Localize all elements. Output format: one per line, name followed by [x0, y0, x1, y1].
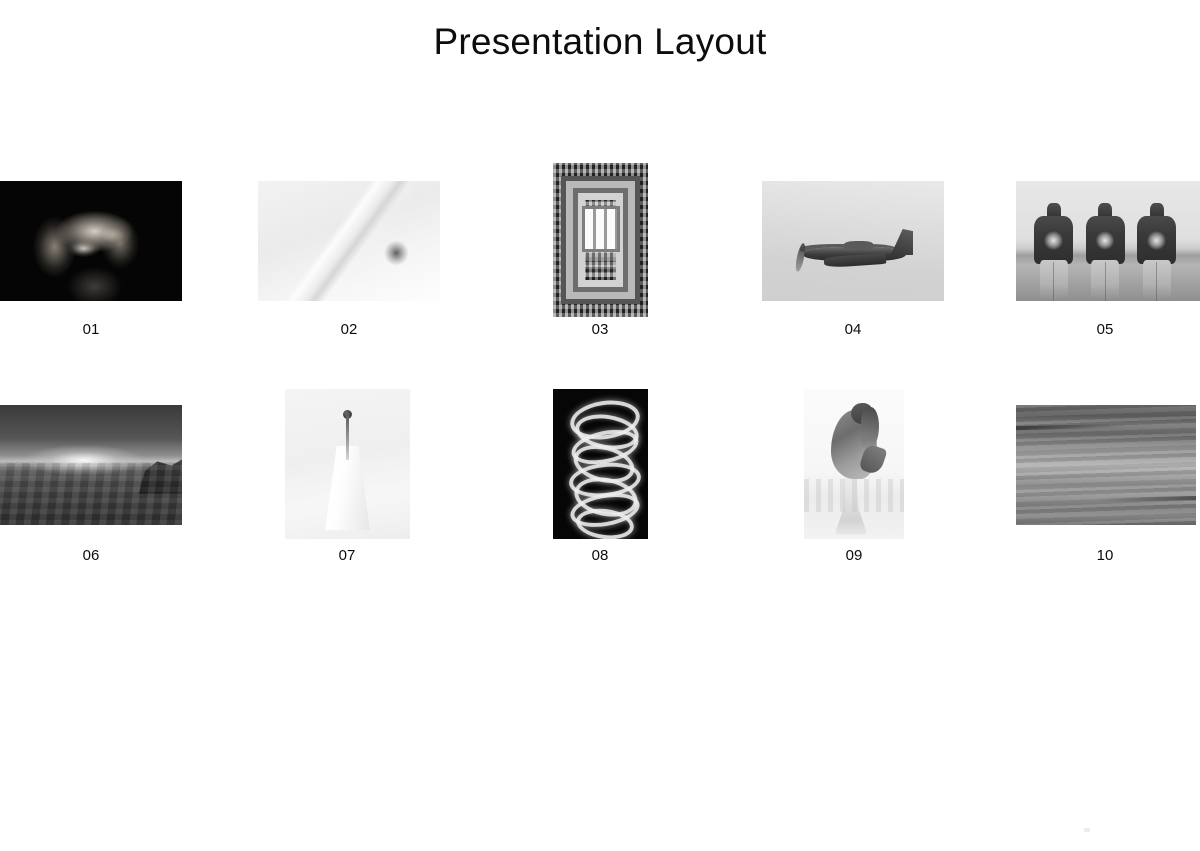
thumbnail-image-04[interactable]: [762, 181, 944, 301]
pilot-figure-center: [1086, 203, 1125, 301]
photo-fighter-aircraft: [762, 181, 944, 301]
photo-light-painting: [553, 389, 648, 539]
thumbnail-caption-10: 10: [1014, 547, 1196, 565]
page-artifact: [1084, 828, 1090, 832]
thumbnail-image-06[interactable]: [0, 405, 182, 525]
thumbnail-caption-02: 02: [258, 321, 440, 339]
thumbnail-caption-08: 08: [509, 547, 691, 565]
thumbnail-caption-05: 05: [1014, 321, 1196, 339]
thumbnail-image-01[interactable]: [0, 181, 182, 301]
presentation-slide: Presentation Layout 01 02 03 04: [0, 0, 1200, 851]
photo-white-vessel: [285, 389, 410, 539]
thumbnail-caption-01: 01: [0, 321, 182, 339]
pilot-jacket: [1086, 216, 1125, 263]
pilot-jacket: [1137, 216, 1176, 263]
pilot-legs: [1040, 260, 1068, 301]
pilot-legs: [1143, 260, 1171, 301]
page-title: Presentation Layout: [0, 18, 1200, 66]
thumbnail-image-03[interactable]: [553, 163, 648, 317]
pilot-figure-left: [1034, 203, 1073, 301]
photo-portrait-dark: [0, 181, 182, 301]
photo-glider-wing: [258, 181, 440, 301]
thumbnail-caption-07: 07: [256, 547, 438, 565]
photo-atrium-architecture: [553, 163, 648, 317]
thumbnail-image-08[interactable]: [553, 389, 648, 539]
photo-motion-blur-seascape: [1016, 405, 1196, 525]
pilot-jacket: [1034, 216, 1073, 263]
thumbnail-caption-09: 09: [763, 547, 945, 565]
thumbnail-image-07[interactable]: [285, 389, 410, 539]
thumbnail-image-02[interactable]: [258, 181, 440, 301]
thumbnail-image-05[interactable]: [1016, 181, 1200, 301]
photo-dusk-seascape: [0, 405, 182, 525]
pilot-figure-right: [1137, 203, 1176, 301]
pilot-legs: [1091, 260, 1119, 301]
vessel-knob: [343, 410, 352, 419]
thumbnail-caption-06: 06: [0, 547, 182, 565]
thumbnail-caption-03: 03: [509, 321, 691, 339]
thumbnail-image-09[interactable]: [804, 389, 904, 539]
aircraft-wing: [824, 253, 886, 268]
thumbnail-image-10[interactable]: [1016, 405, 1196, 525]
photo-figure-on-pedestal: [804, 389, 904, 539]
aircraft-propeller: [794, 243, 807, 273]
photo-three-pilots: [1016, 181, 1200, 301]
thumbnail-caption-04: 04: [762, 321, 944, 339]
aircraft-canopy: [844, 241, 873, 249]
